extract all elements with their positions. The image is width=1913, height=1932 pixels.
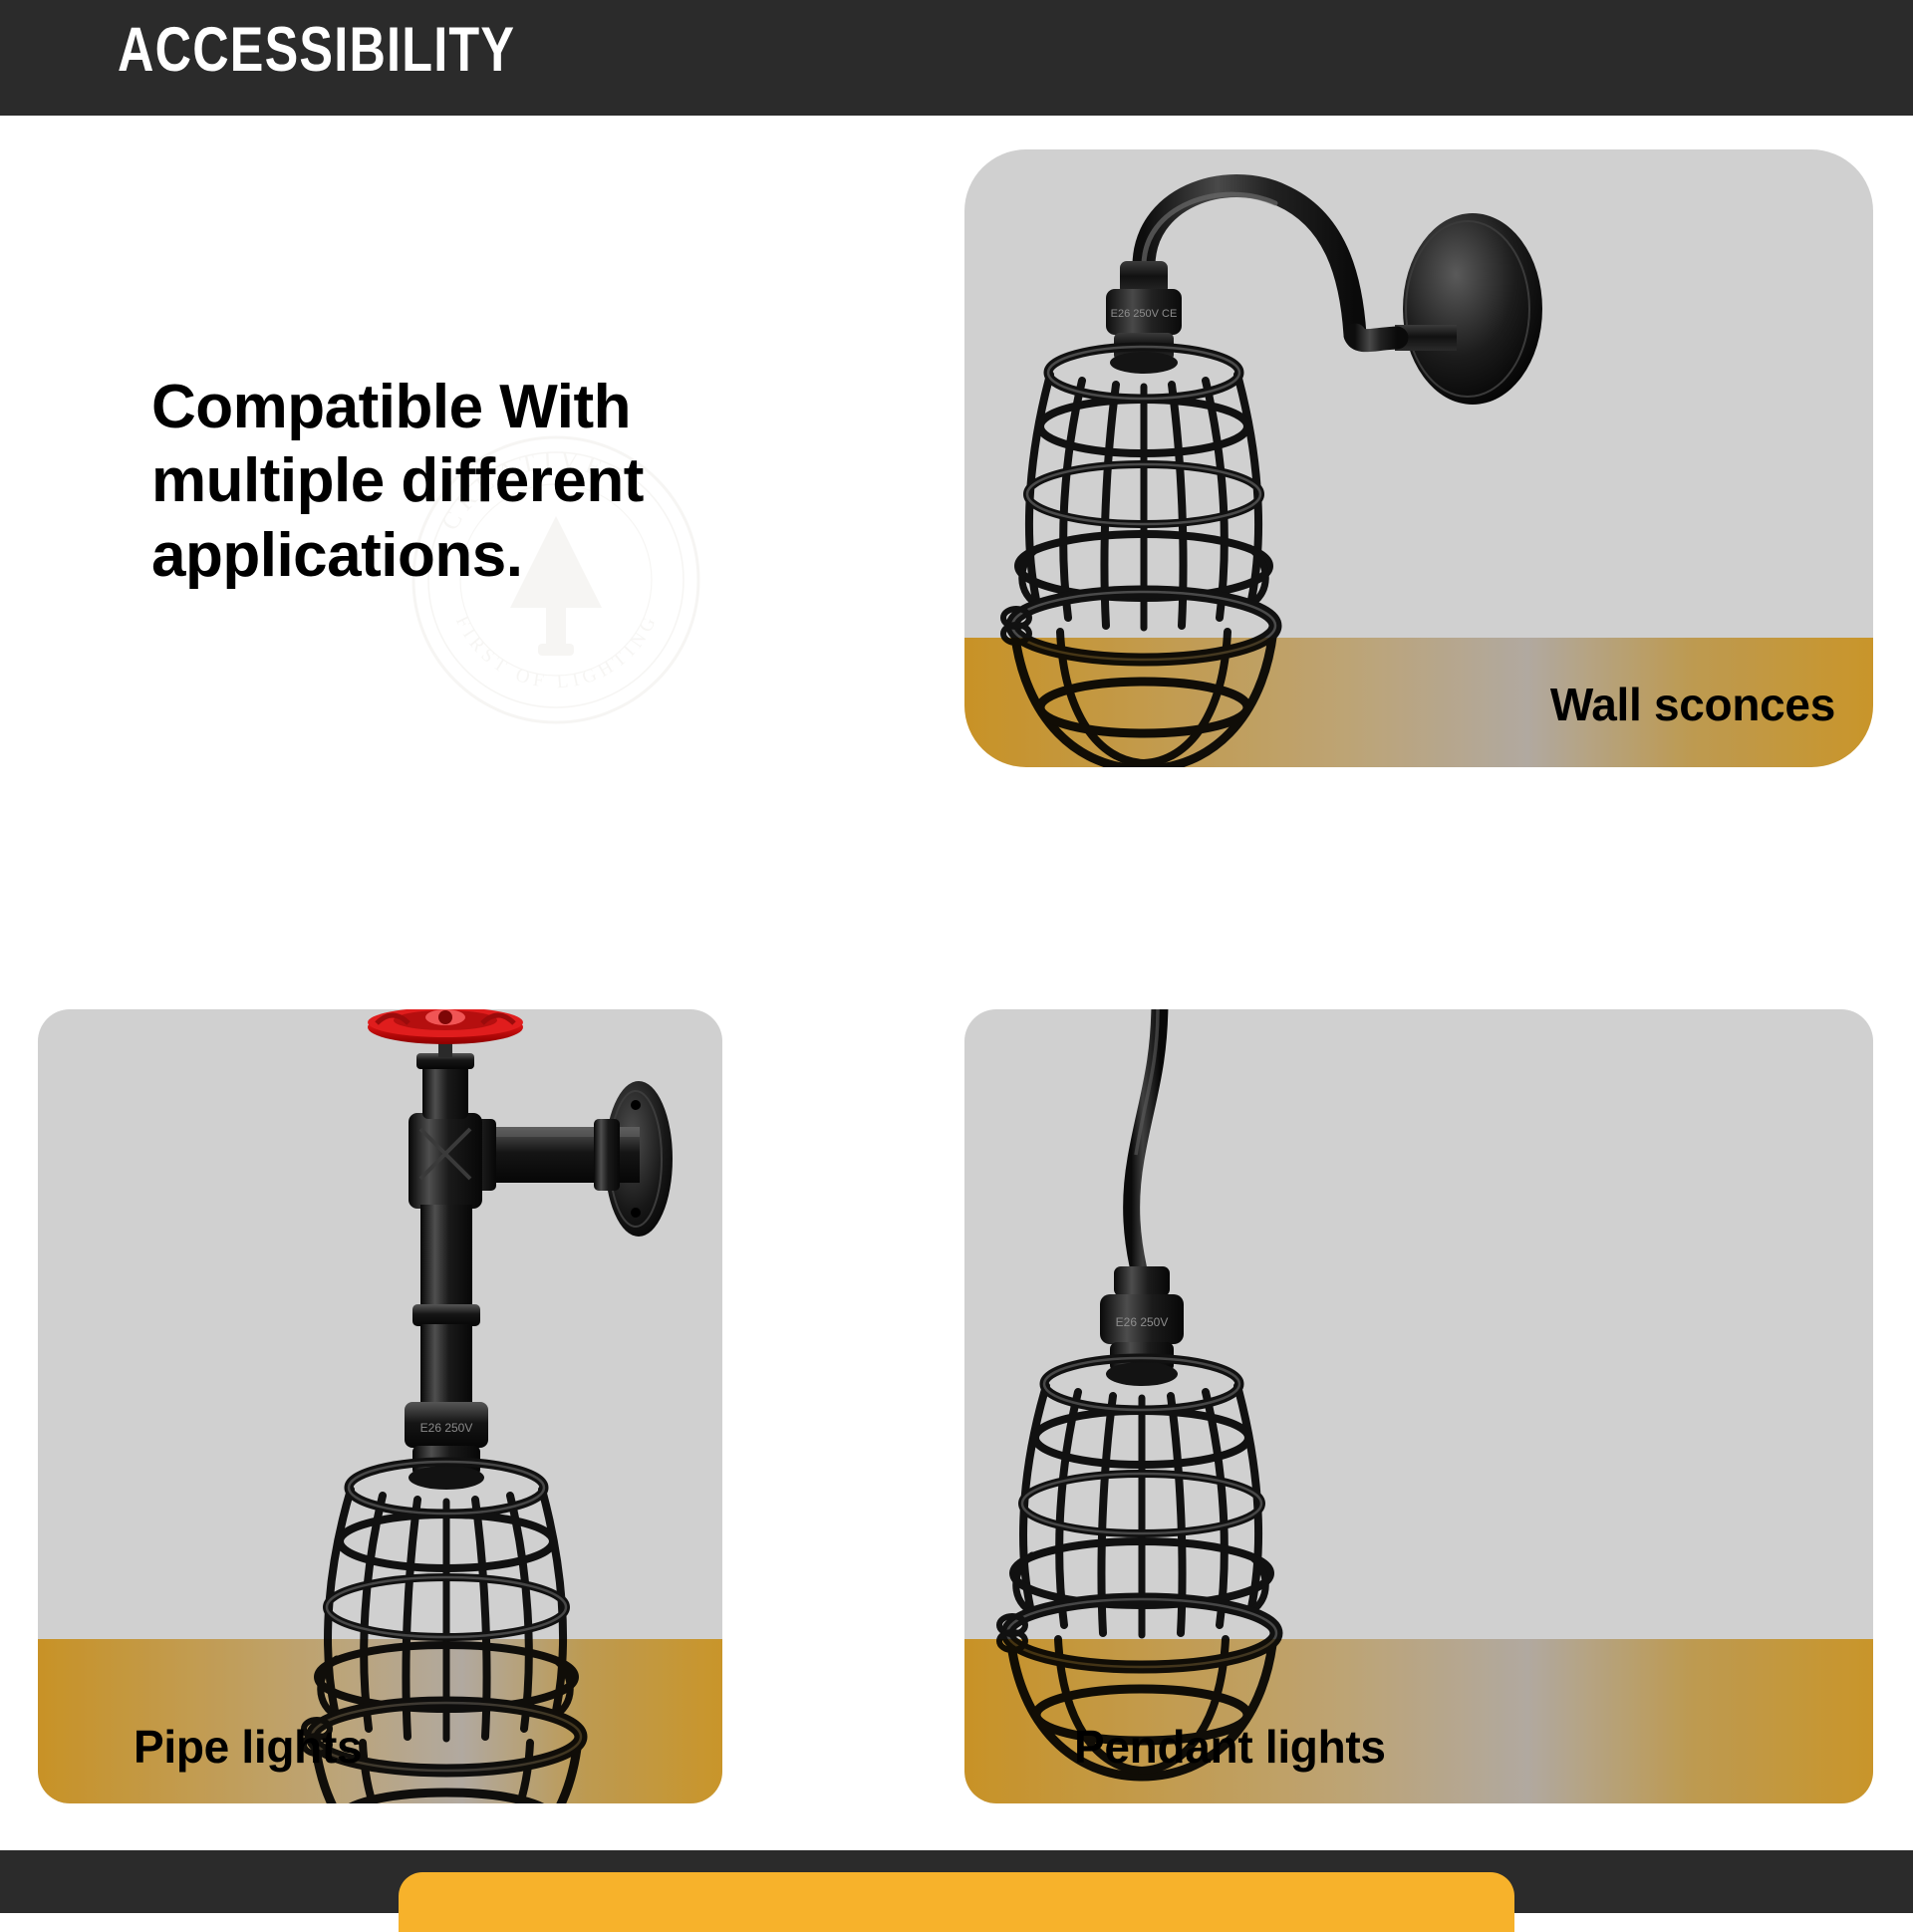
card-wall-sconces[interactable]: E26 250V CE (964, 149, 1873, 767)
headline-line-1: Compatible With (151, 371, 789, 444)
card-pipe-lights[interactable]: E26 250V (38, 1009, 722, 1803)
svg-text:E26 250V CE: E26 250V CE (1111, 308, 1178, 320)
card-label-pipe-lights: Pipe lights (134, 1720, 362, 1774)
svg-text:E26 250V: E26 250V (1116, 1315, 1169, 1329)
headline-block: Compatible With multiple different appli… (151, 371, 789, 593)
footer-accent-pill (399, 1872, 1514, 1932)
card-pendant-lights[interactable]: E26 250V (964, 1009, 1873, 1803)
headline-line-3: applications. (151, 519, 789, 593)
card-label-pendant-lights: Pendant lights (1074, 1720, 1386, 1774)
page-title: ACCESSIBILITY (118, 14, 515, 86)
svg-text:E26 250V: E26 250V (420, 1421, 473, 1435)
headline-line-2: multiple different (151, 444, 789, 518)
card-label-wall-sconces: Wall sconces (1550, 678, 1835, 731)
